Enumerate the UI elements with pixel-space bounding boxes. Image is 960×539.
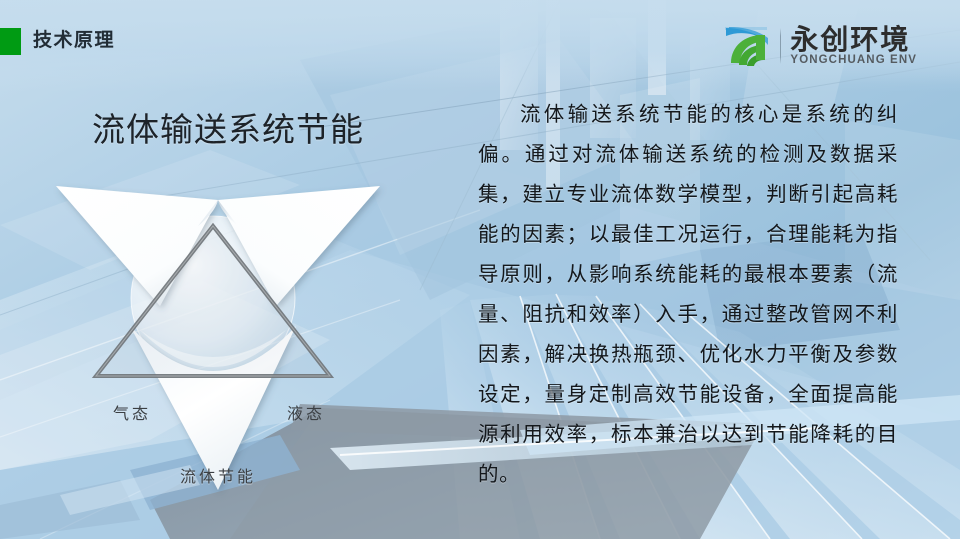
logo-divider <box>780 28 781 64</box>
section-heading: 流体输送系统节能 <box>92 103 364 151</box>
logo-wordmark: 永创环境 YONGCHUANG ENV <box>790 25 917 67</box>
body-paragraph: 流体输送系统节能的核心是系统的纠偏。通过对流体输送系统的检测及数据采集，建立专业… <box>478 94 898 494</box>
slide-canvas: 技术原理 永创环境 YONGCHUANG ENV 流体输送系统节能 <box>0 0 960 539</box>
yongchuang-leaf-swoosh-logo-icon <box>723 24 771 68</box>
green-square-marker-icon <box>0 28 21 55</box>
logo-name-cn: 永创环境 <box>790 25 917 54</box>
page-title: 技术原理 <box>33 27 115 55</box>
fluid-energy-saving-triangle-diagram: 气态 液态 气液 混合 流体节能 <box>48 178 388 498</box>
logo-name-en: YONGCHUANG ENV <box>790 54 917 67</box>
company-logo: 永创环境 YONGCHUANG ENV <box>723 22 917 70</box>
